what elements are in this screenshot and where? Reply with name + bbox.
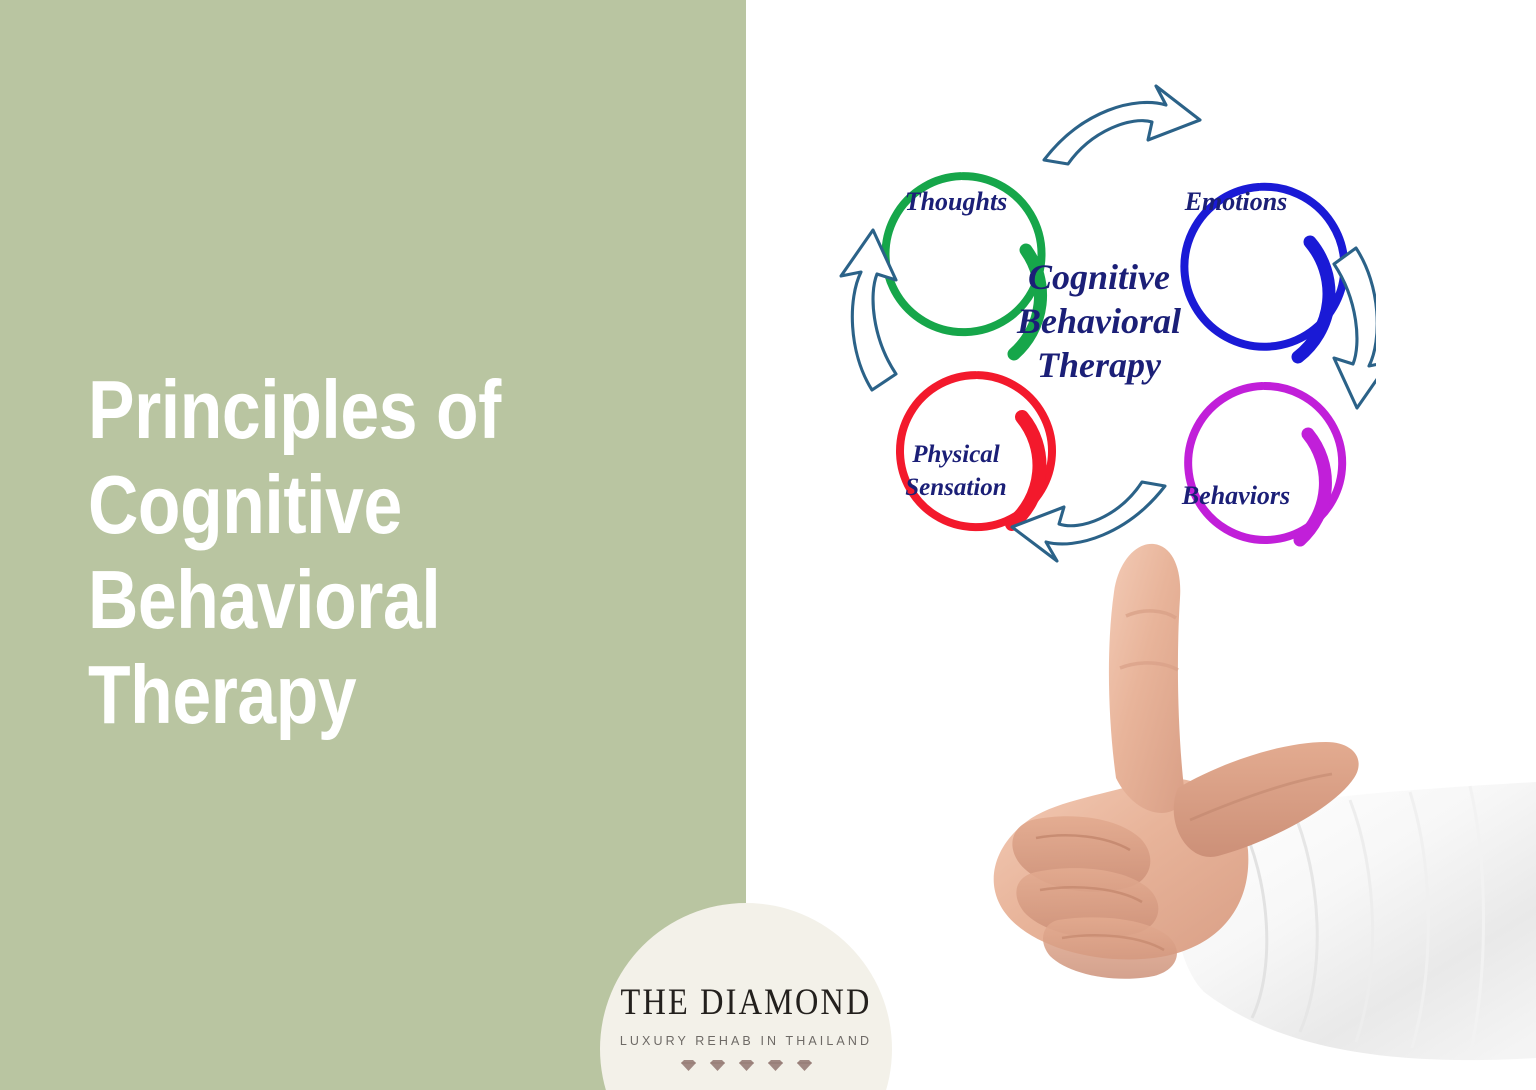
diamond-icon	[680, 1059, 697, 1072]
diagram-center-title-line-3: Therapy	[1037, 345, 1162, 385]
diagram-center-title-line-1: Cognitive	[1028, 257, 1170, 297]
logo-wordmark: THE DIAMOND	[621, 983, 872, 1024]
diamond-icon	[709, 1059, 726, 1072]
diagram-arrow-emotions-to-behaviors	[1334, 248, 1376, 408]
poster-canvas: Principles of Cognitive Behavioral Thera…	[0, 0, 1536, 1090]
diagram-node-label-emotions: Emotions	[1184, 187, 1288, 216]
the-diamond-logo-badge: THE DIAMOND LUXURY REHAB IN THAILAND	[600, 903, 892, 1090]
logo-gem-row	[680, 1059, 813, 1072]
diagram-node-label-thoughts: Thoughts	[905, 187, 1008, 216]
cbt-cycle-diagram: Thoughts Emotions Behaviors Physical Sen…	[836, 72, 1376, 572]
page-title: Principles of Cognitive Behavioral Thera…	[88, 362, 609, 742]
hand-pointing-up-photo	[940, 520, 1536, 1090]
logo-tagline: LUXURY REHAB IN THAILAND	[620, 1034, 872, 1048]
diagram-center-title-line-2: Behavioral	[1016, 301, 1181, 341]
diagram-node-label-behaviors: Behaviors	[1181, 481, 1290, 510]
diamond-icon	[738, 1059, 755, 1072]
diagram-node-label-physical: Physical	[911, 441, 1000, 468]
diamond-icon	[767, 1059, 784, 1072]
diagram-arrow-thoughts-to-emotions	[1044, 86, 1200, 164]
diamond-icon	[796, 1059, 813, 1072]
diagram-node-label-sensation: Sensation	[905, 474, 1006, 501]
